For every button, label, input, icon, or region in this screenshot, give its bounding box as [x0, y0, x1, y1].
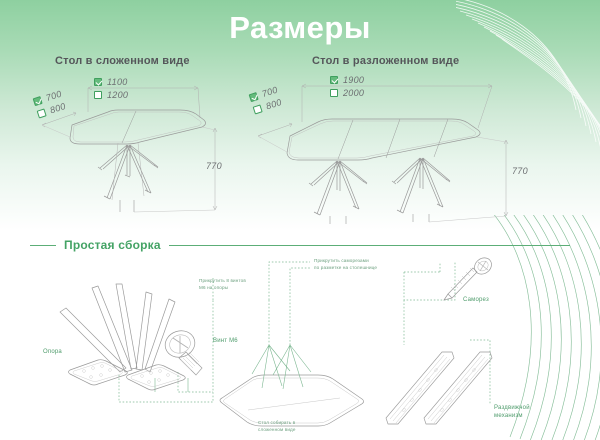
- checkbox-checked-icon[interactable]: [330, 76, 338, 84]
- tabletop-drawing: [220, 345, 364, 426]
- checkbox-empty-icon[interactable]: [252, 104, 262, 114]
- option-value: 1200: [107, 90, 128, 100]
- page-title: Размеры: [0, 10, 600, 46]
- label-mechanism: Раздвижной механизм: [494, 404, 530, 421]
- assembly-section-header: Простая сборка: [30, 238, 570, 252]
- rail-icon: [386, 352, 492, 424]
- checkbox-empty-icon[interactable]: [330, 89, 338, 97]
- label-screw: Саморез: [463, 296, 489, 304]
- bolt-icon: [162, 327, 202, 375]
- label-bolt: Винт М6: [213, 337, 238, 345]
- unfolded-height-value: 770: [512, 166, 528, 176]
- checkbox-checked-icon[interactable]: [248, 92, 258, 102]
- option-row: 1200: [94, 89, 128, 100]
- unfolded-width-options: 1900 2000: [330, 74, 364, 100]
- checkbox-empty-icon[interactable]: [36, 108, 46, 118]
- rule-right: [169, 245, 570, 246]
- note-bolt: Прикрутить 8 винтов М6 на опоры: [199, 278, 246, 291]
- option-row: 1900: [330, 74, 364, 85]
- option-value: 1900: [343, 75, 364, 85]
- option-value: 1100: [107, 77, 128, 87]
- note-tabletop: Стол собирать в сложенном виде: [258, 420, 296, 433]
- option-value: 800: [49, 101, 67, 115]
- folded-height-value: 770: [206, 161, 222, 171]
- option-value: 2000: [343, 88, 364, 98]
- option-row: 2000: [330, 87, 364, 98]
- folded-width-options: 1100 1200: [94, 76, 128, 102]
- rule-left: [30, 245, 56, 246]
- screw-icon: [444, 255, 495, 300]
- infographic-page: Размеры Стол в сложенном виде Стол в раз…: [0, 0, 600, 440]
- section-title-unfolded: Стол в разложенном виде: [312, 55, 459, 67]
- checkbox-checked-icon[interactable]: [94, 78, 102, 86]
- note-screw: Прикрутить саморезами по разметке на сто…: [314, 258, 377, 271]
- label-support: Опора: [43, 348, 62, 356]
- option-value: 800: [265, 97, 283, 111]
- support-legs-drawing: [60, 284, 185, 390]
- option-row: 1100: [94, 76, 128, 87]
- checkbox-checked-icon[interactable]: [32, 96, 42, 106]
- checkbox-empty-icon[interactable]: [94, 91, 102, 99]
- section-title-folded: Стол в сложенном виде: [55, 55, 190, 67]
- assembly-title: Простая сборка: [64, 238, 161, 252]
